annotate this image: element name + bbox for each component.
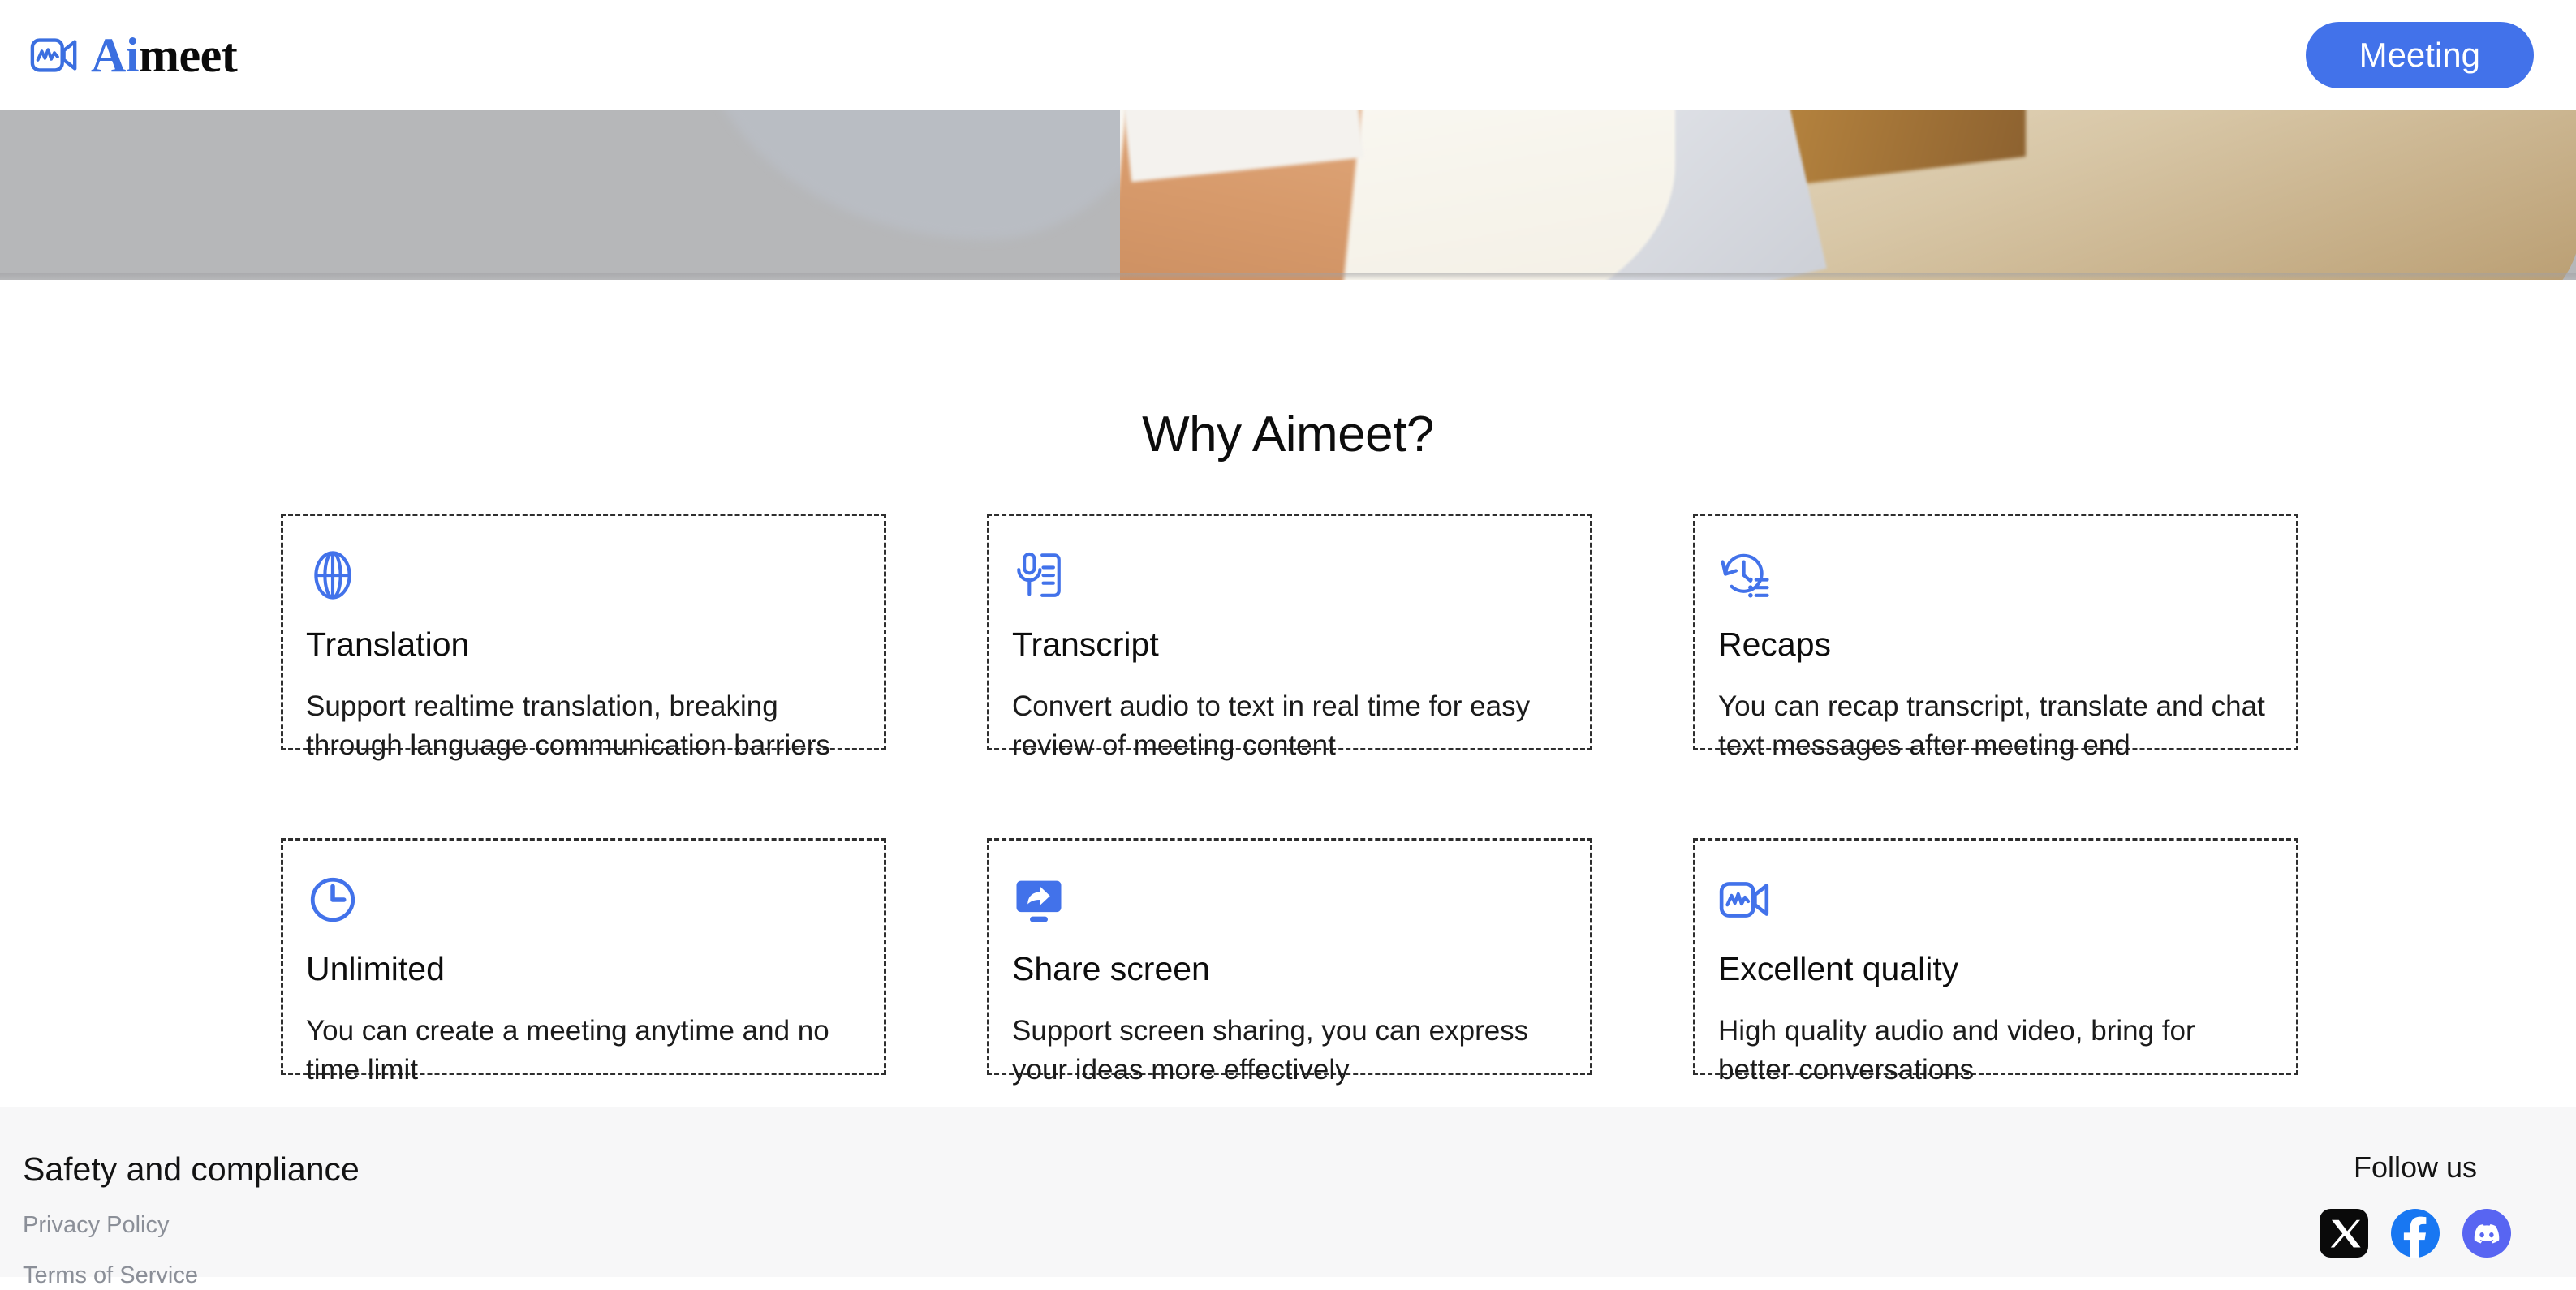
feature-card-excellent-quality[interactable]: Excellent quality High quality audio and… xyxy=(1693,838,2298,1075)
page-title: Why Aimeet? xyxy=(0,406,2576,463)
footer-safety-column: Safety and compliance Privacy Policy Ter… xyxy=(23,1150,360,1290)
footer-follow-column: Follow us xyxy=(2320,1150,2540,1258)
feature-title: Unlimited xyxy=(306,949,855,989)
hero-photo xyxy=(1120,110,2576,280)
feature-title: Transcript xyxy=(1012,625,1561,664)
facebook-icon[interactable] xyxy=(2391,1209,2440,1258)
hero-bottom-fade xyxy=(0,273,2576,280)
features-section: Why Aimeet? Translation Support realtime… xyxy=(0,280,2576,1107)
feature-card-share-screen[interactable]: Share screen Support screen sharing, you… xyxy=(987,838,1592,1075)
screen-share-icon xyxy=(1012,873,1561,941)
footer-link-privacy-policy[interactable]: Privacy Policy xyxy=(23,1211,360,1240)
feature-card-recaps[interactable]: Recaps You can recap transcript, transla… xyxy=(1693,514,2298,750)
site-footer: Safety and compliance Privacy Policy Ter… xyxy=(0,1107,2576,1277)
feature-card-unlimited[interactable]: Unlimited You can create a meeting anyti… xyxy=(281,838,886,1075)
feature-description: High quality audio and video, bring for … xyxy=(1718,1012,2267,1089)
feature-description: You can create a meeting anytime and no … xyxy=(306,1012,855,1089)
footer-heading: Safety and compliance xyxy=(23,1150,360,1189)
follow-us-label: Follow us xyxy=(2354,1150,2477,1185)
hero-banner xyxy=(0,110,2576,280)
feature-title: Excellent quality xyxy=(1718,949,2267,989)
brand-text-primary: Ai xyxy=(91,28,139,82)
microphone-transcript-icon xyxy=(1012,548,1561,617)
x-twitter-icon[interactable] xyxy=(2320,1209,2368,1258)
feature-title: Share screen xyxy=(1012,949,1561,989)
globe-icon xyxy=(306,548,855,617)
brand-text-secondary: meet xyxy=(139,28,237,82)
feature-description: Support screen sharing, you can express … xyxy=(1012,1012,1561,1089)
site-header: Aimeet Meeting xyxy=(0,0,2576,110)
social-links xyxy=(2320,1209,2511,1258)
feature-card-grid: Translation Support realtime translation… xyxy=(281,514,2295,1075)
video-camera-waveform-icon xyxy=(29,30,80,80)
feature-description: Support realtime translation, breaking t… xyxy=(306,687,855,764)
clock-icon xyxy=(306,873,855,941)
feature-description: Convert audio to text in real time for e… xyxy=(1012,687,1561,764)
brand-wordmark: Aimeet xyxy=(91,31,237,80)
discord-icon[interactable] xyxy=(2462,1209,2511,1258)
brand-logo[interactable]: Aimeet xyxy=(29,30,237,80)
feature-card-transcript[interactable]: Transcript Convert audio to text in real… xyxy=(987,514,1592,750)
feature-title: Translation xyxy=(306,625,855,664)
feature-title: Recaps xyxy=(1718,625,2267,664)
meeting-button[interactable]: Meeting xyxy=(2306,22,2534,88)
feature-card-translation[interactable]: Translation Support realtime translation… xyxy=(281,514,886,750)
history-clock-list-icon xyxy=(1718,548,2267,617)
footer-link-terms-of-service[interactable]: Terms of Service xyxy=(23,1262,360,1290)
video-camera-waveform-icon xyxy=(1718,873,2267,941)
feature-description: You can recap transcript, translate and … xyxy=(1718,687,2267,764)
